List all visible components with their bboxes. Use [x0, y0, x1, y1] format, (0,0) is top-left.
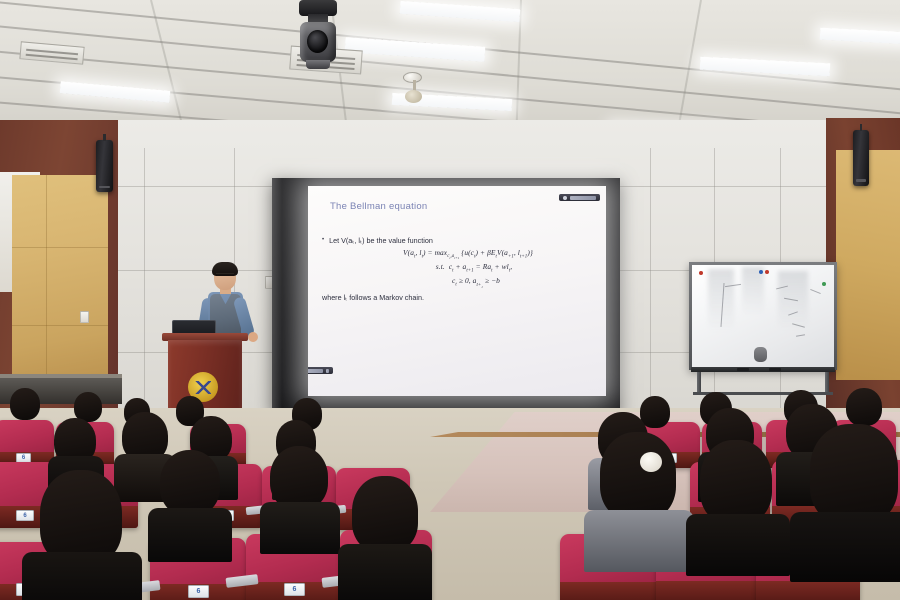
- slide-content: The Bellman equation • Let V(aₜ, lₜ) be …: [308, 186, 606, 396]
- sprinkler-head-icon: [405, 90, 422, 103]
- badge-dot: [563, 196, 567, 200]
- slide-bullet: • Let V(aₜ, lₜ) be the value function: [322, 236, 596, 245]
- mobile-whiteboard: [689, 262, 837, 382]
- magnet-red: [699, 271, 703, 275]
- ac-vent: [19, 41, 84, 65]
- light-panel: [400, 1, 521, 22]
- equation-line-3: ct ≥ 0, at+1 ≥ −b: [322, 276, 596, 288]
- glasses-icon: [216, 273, 234, 279]
- bottom-left-status-badge: [308, 367, 333, 374]
- light-panel: [820, 28, 900, 45]
- whiteboard-stand: [695, 372, 831, 376]
- lecturer-right-hand: [248, 332, 258, 342]
- ptz-camera-icon: [295, 0, 341, 72]
- magnet-blue: [759, 270, 763, 274]
- left-wall-wood-panel: [12, 175, 108, 390]
- wall-outlet-left: [80, 311, 89, 323]
- seat-number-plate: 6: [188, 585, 209, 598]
- screen-edge-highlight: [272, 178, 282, 414]
- slide-closing-text: where lₜ follows a Markov chain.: [322, 293, 596, 302]
- light-panel: [60, 81, 171, 103]
- seat-number-plate: 6: [284, 583, 305, 596]
- light-panel: [700, 57, 831, 77]
- magnet-green: [822, 282, 826, 286]
- whiteboard-eraser[interactable]: [754, 347, 767, 362]
- slide-body: • Let V(aₜ, lₜ) be the value function V(…: [322, 236, 596, 302]
- marker[interactable]: [737, 368, 749, 371]
- badge-label-blurred: [326, 369, 329, 373]
- marker[interactable]: [769, 368, 781, 371]
- equation-line-2: s.t. ct + at+1 = Rat + wlt,: [322, 262, 596, 273]
- whiteboard-surface: [692, 265, 834, 367]
- badge-label-blurred: [570, 196, 596, 200]
- badge-label-blurred: [308, 369, 323, 373]
- speaker-right: [853, 130, 869, 186]
- speaker-left: [96, 140, 113, 192]
- magnet-red: [765, 270, 769, 274]
- top-right-status-badge: [559, 194, 600, 201]
- equation-line-1: V(at, lt) = maxct,at+1 {u(ct) + βEtV(a+1…: [322, 248, 596, 260]
- hair-accessory: [640, 452, 662, 472]
- bullet-text: Let V(aₜ, lₜ) be the value function: [329, 236, 433, 245]
- slide-title: The Bellman equation: [330, 201, 427, 212]
- lecture-hall-scene: The Bellman equation • Let V(aₜ, lₜ) be …: [0, 0, 900, 600]
- bullet-marker: •: [322, 236, 324, 245]
